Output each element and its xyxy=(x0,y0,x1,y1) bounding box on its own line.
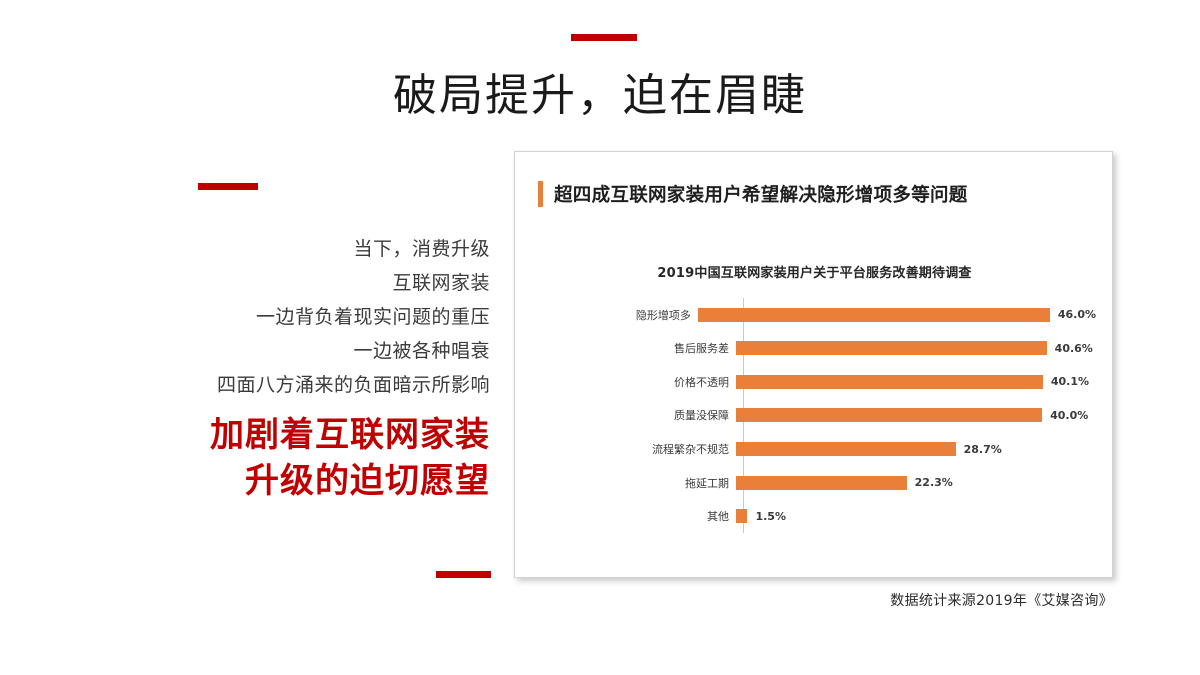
copy-line: 互联网家装 xyxy=(60,266,490,300)
emphasis-line: 升级的迫切愿望 xyxy=(60,458,490,504)
copy-line: 当下，消费升级 xyxy=(60,232,490,266)
source-note: 数据统计来源2019年《艾媒咨询》 xyxy=(713,590,1113,610)
bar-category-label: 价格不透明 xyxy=(536,374,736,390)
bar-value-label: 22.3% xyxy=(915,476,953,489)
bar-chart-plot: 隐形增项多46.0%售后服务差40.6%价格不透明40.1%质量没保障40.0%… xyxy=(536,298,1096,533)
bar-category-label: 隐形增项多 xyxy=(536,307,698,323)
bar-fill xyxy=(736,442,956,456)
bar-row: 售后服务差40.6% xyxy=(536,332,1096,366)
emphasis-text: 加剧着互联网家装 升级的迫切愿望 xyxy=(60,412,490,504)
bar-row: 隐形增项多46.0% xyxy=(536,298,1096,332)
bar-value-label: 40.1% xyxy=(1051,375,1089,388)
bar-track: 46.0% xyxy=(698,298,1096,332)
bar-row: 流程繁杂不规范28.7% xyxy=(536,432,1096,466)
bar-track: 40.6% xyxy=(736,332,1096,366)
narrative-copy-block: 当下，消费升级 互联网家装 一边背负着现实问题的重压 一边被各种唱衰 四面八方涌… xyxy=(60,232,490,504)
card-accent-bar-icon xyxy=(538,181,543,207)
bar-fill xyxy=(736,408,1042,422)
bar-track: 22.3% xyxy=(736,466,1096,500)
chart-card: 超四成互联网家装用户希望解决隐形增项多等问题 2019中国互联网家装用户关于平台… xyxy=(514,151,1113,578)
card-title-row: 超四成互联网家装用户希望解决隐形增项多等问题 xyxy=(538,181,968,207)
chart-title: 2019中国互联网家装用户关于平台服务改善期待调查 xyxy=(515,262,1114,281)
bar-fill xyxy=(736,476,907,490)
bar-row: 价格不透明40.1% xyxy=(536,365,1096,399)
page-title: 破局提升，迫在眉睫 xyxy=(0,66,1200,126)
bar-row: 其他1.5% xyxy=(536,499,1096,533)
bottom-accent-rule xyxy=(436,571,491,578)
bar-value-label: 40.0% xyxy=(1050,409,1088,422)
bar-category-label: 拖延工期 xyxy=(536,475,736,491)
bar-fill xyxy=(698,308,1050,322)
bar-track: 40.0% xyxy=(736,399,1096,433)
bar-track: 40.1% xyxy=(736,365,1096,399)
copy-line: 一边被各种唱衰 xyxy=(60,334,490,368)
emphasis-line: 加剧着互联网家装 xyxy=(60,412,490,458)
left-accent-rule xyxy=(198,183,258,190)
bar-category-label: 售后服务差 xyxy=(536,340,736,356)
bar-value-label: 1.5% xyxy=(755,510,786,523)
bar-fill xyxy=(736,509,747,523)
bar-fill xyxy=(736,375,1043,389)
bar-track: 1.5% xyxy=(736,499,1096,533)
card-title: 超四成互联网家装用户希望解决隐形增项多等问题 xyxy=(554,181,968,207)
copy-line: 四面八方涌来的负面暗示所影响 xyxy=(60,368,490,402)
bar-value-label: 28.7% xyxy=(964,443,1002,456)
bar-row: 质量没保障40.0% xyxy=(536,399,1096,433)
bar-category-label: 质量没保障 xyxy=(536,407,736,423)
top-accent-rule xyxy=(571,34,637,41)
bar-category-label: 流程繁杂不规范 xyxy=(536,441,736,457)
bar-track: 28.7% xyxy=(736,432,1096,466)
bar-value-label: 46.0% xyxy=(1058,308,1096,321)
bar-fill xyxy=(736,341,1047,355)
bar-category-label: 其他 xyxy=(536,508,736,524)
copy-line: 一边背负着现实问题的重压 xyxy=(60,300,490,334)
bar-value-label: 40.6% xyxy=(1055,342,1093,355)
bar-row: 拖延工期22.3% xyxy=(536,466,1096,500)
